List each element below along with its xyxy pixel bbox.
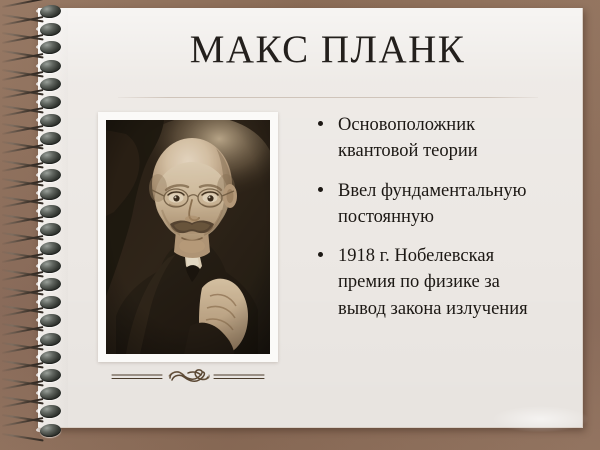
bullet-list: Основоположник квантовой теории Ввел фун… (312, 112, 534, 335)
portrait-max-planck-photo (106, 120, 270, 354)
title-divider (118, 97, 538, 98)
title-block: МАКС ПЛАНК (120, 30, 535, 71)
list-item: 1918 г. Нобелевская премия по физике за … (312, 243, 534, 322)
presentation-slide: МАКС ПЛАНК (0, 0, 600, 450)
page-left-margin (38, 8, 68, 428)
flourish-ornament (98, 366, 278, 388)
page-title: МАКС ПЛАНК (120, 30, 535, 71)
photo-frame (98, 112, 278, 362)
list-item: Ввел фундаментальную постоянную (312, 178, 534, 231)
list-item: Основоположник квантовой теории (312, 112, 534, 165)
